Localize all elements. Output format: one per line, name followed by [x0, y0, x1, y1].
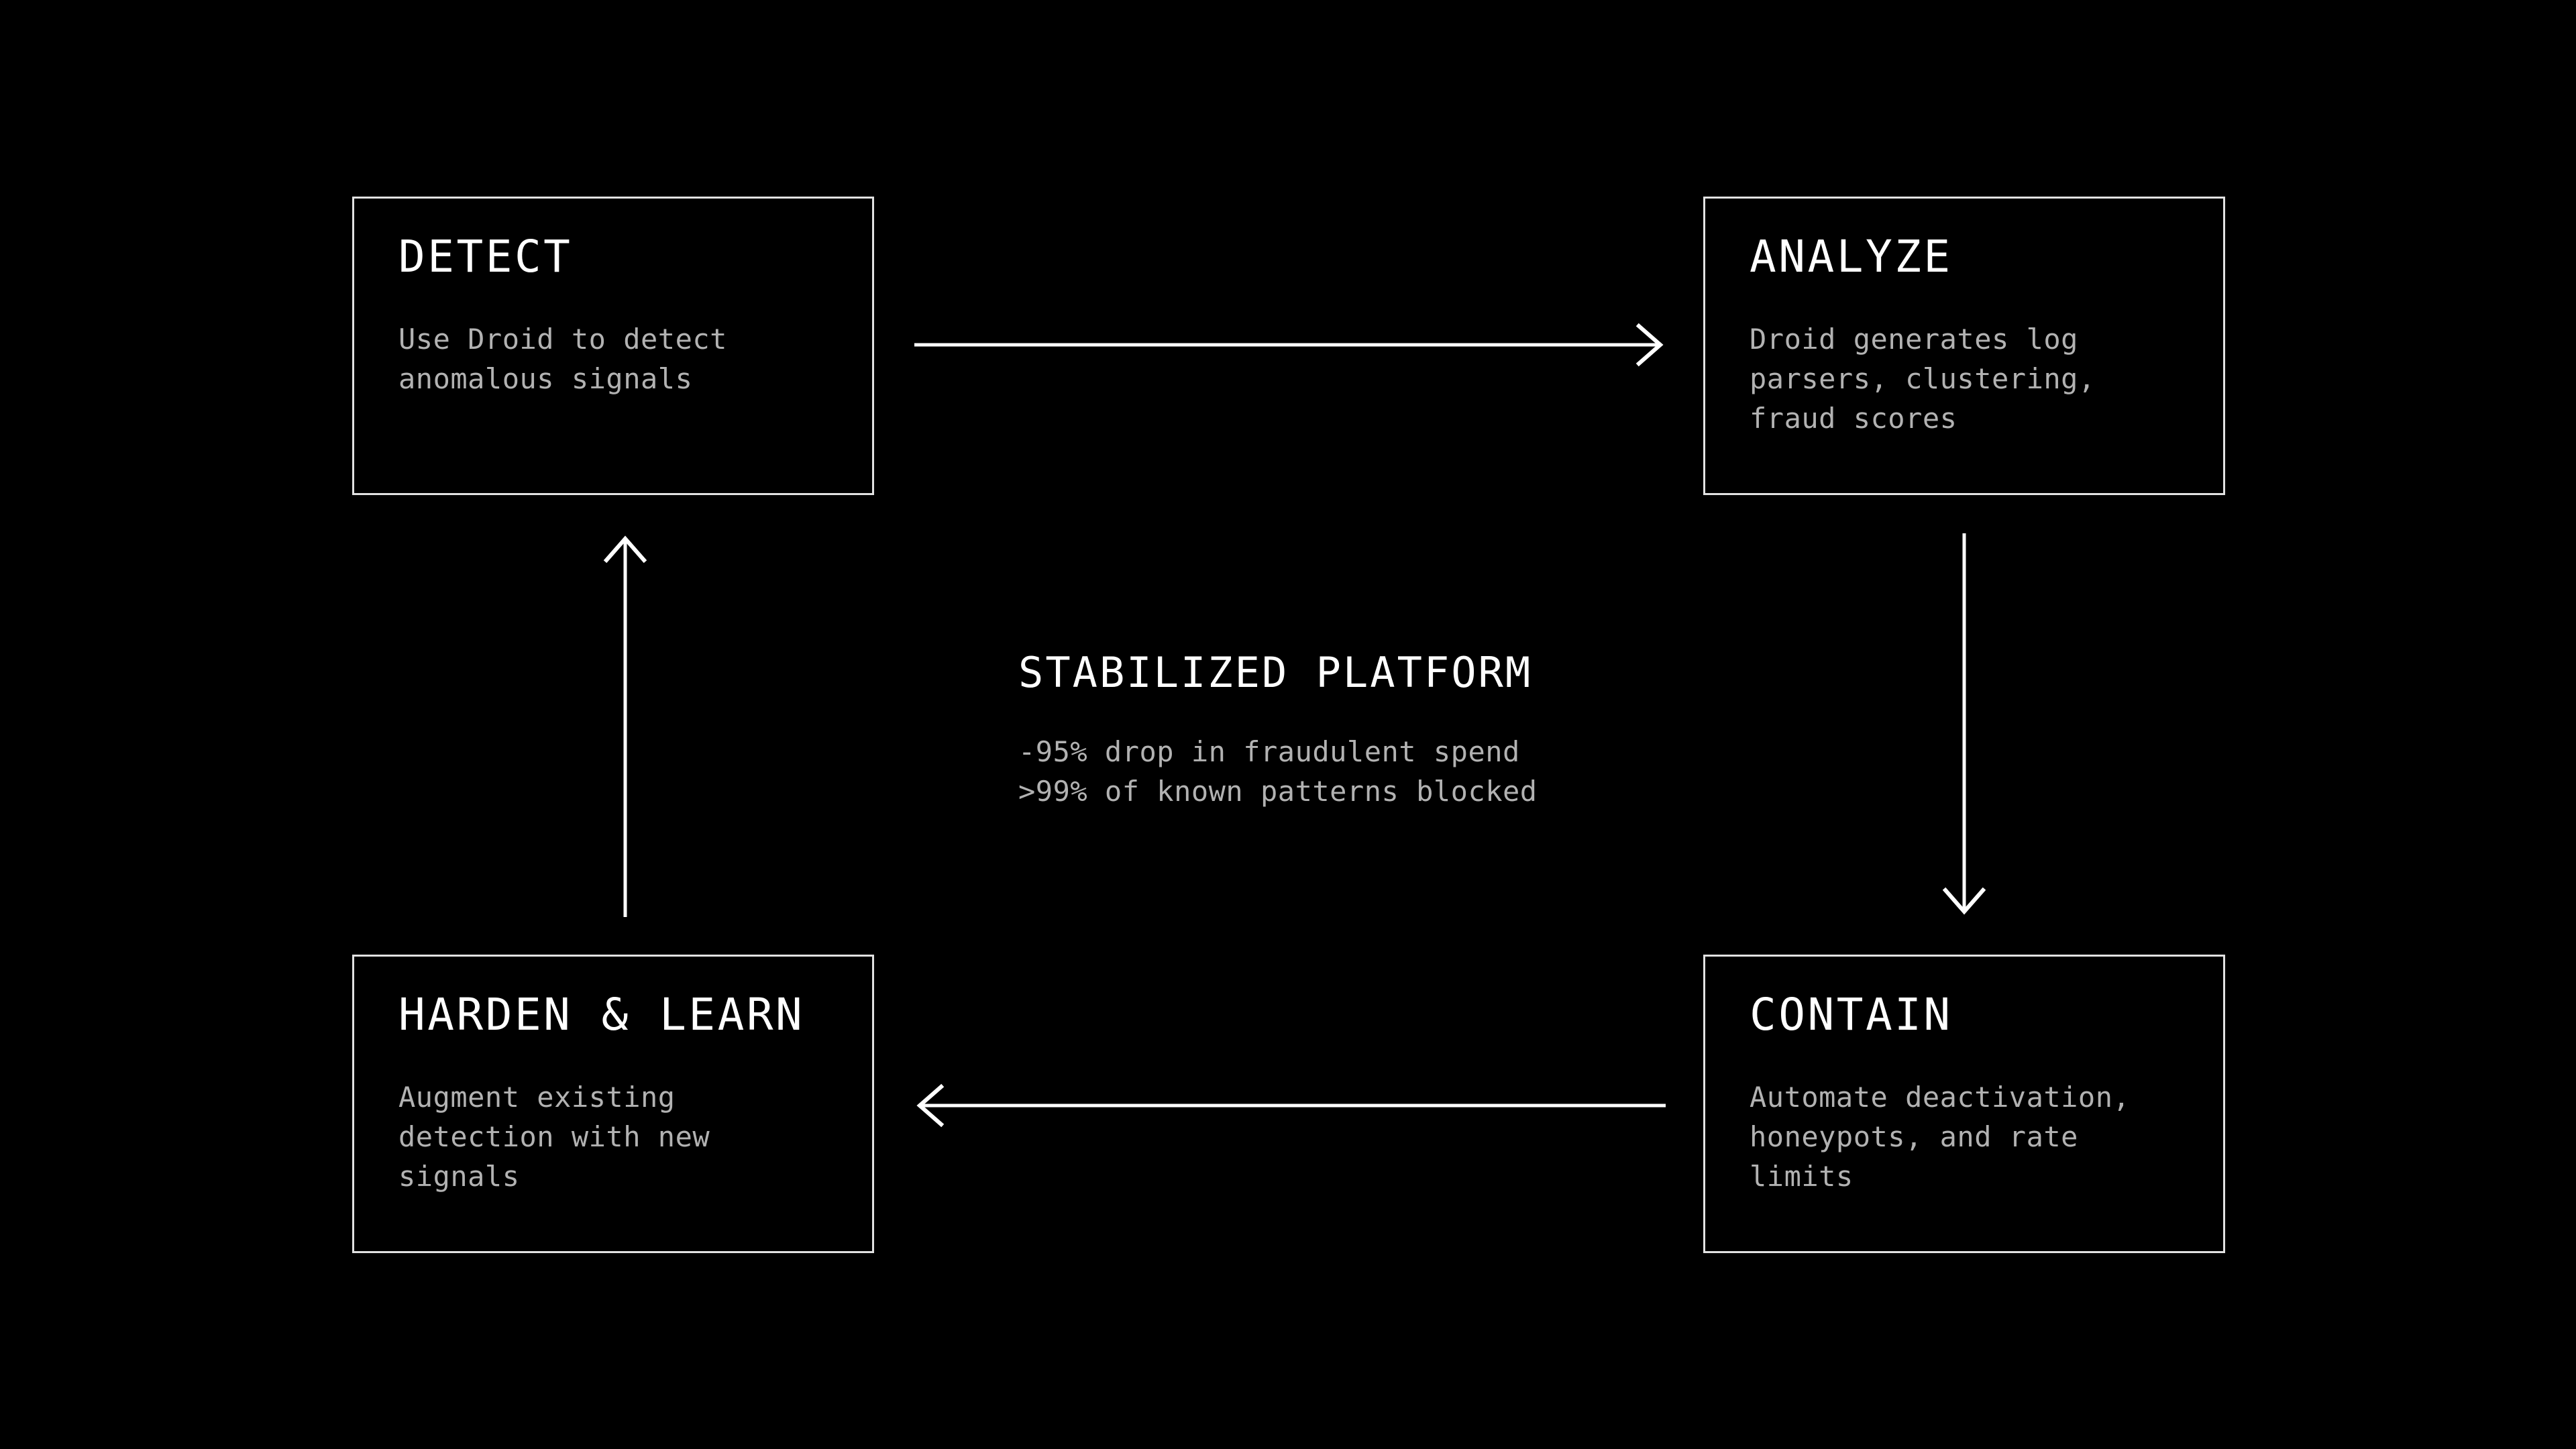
node-analyze-title: ANALYZE	[1750, 233, 2203, 280]
center-metrics: -95% drop in fraudulent spend >99% of kn…	[1018, 732, 1689, 811]
arrow-contain-to-harden-icon	[914, 1081, 1666, 1130]
node-detect-body: Use Droid to detect anomalous signals	[398, 319, 852, 398]
node-detect-content: DETECT Use Droid to detect anomalous sig…	[398, 233, 852, 398]
node-contain-title: CONTAIN	[1750, 991, 2203, 1038]
node-harden-body: Augment existing detection with new sign…	[398, 1077, 852, 1196]
node-analyze[interactable]: ANALYZE Droid generates log parsers, clu…	[1703, 197, 2225, 495]
center-caption: STABILIZED PLATFORM -95% drop in fraudul…	[1018, 651, 1689, 811]
node-analyze-content: ANALYZE Droid generates log parsers, clu…	[1750, 233, 2203, 438]
node-contain[interactable]: CONTAIN Automate deactivation, honeypots…	[1703, 955, 2225, 1253]
node-detect[interactable]: DETECT Use Droid to detect anomalous sig…	[352, 197, 874, 495]
node-harden-content: HARDEN & LEARN Augment existing detectio…	[398, 991, 852, 1196]
center-title: STABILIZED PLATFORM	[1018, 651, 1689, 695]
arrow-harden-to-detect-icon	[601, 533, 649, 917]
node-detect-title: DETECT	[398, 233, 852, 280]
node-harden-title: HARDEN & LEARN	[398, 991, 852, 1038]
node-harden-and-learn[interactable]: HARDEN & LEARN Augment existing detectio…	[352, 955, 874, 1253]
node-contain-content: CONTAIN Automate deactivation, honeypots…	[1750, 991, 2203, 1196]
arrow-detect-to-analyze-icon	[914, 321, 1666, 369]
node-contain-body: Automate deactivation, honeypots, and ra…	[1750, 1077, 2203, 1196]
arrow-analyze-to-contain-icon	[1940, 533, 1988, 917]
diagram-canvas: DETECT Use Droid to detect anomalous sig…	[0, 0, 2576, 1449]
node-analyze-body: Droid generates log parsers, clustering,…	[1750, 319, 2203, 438]
